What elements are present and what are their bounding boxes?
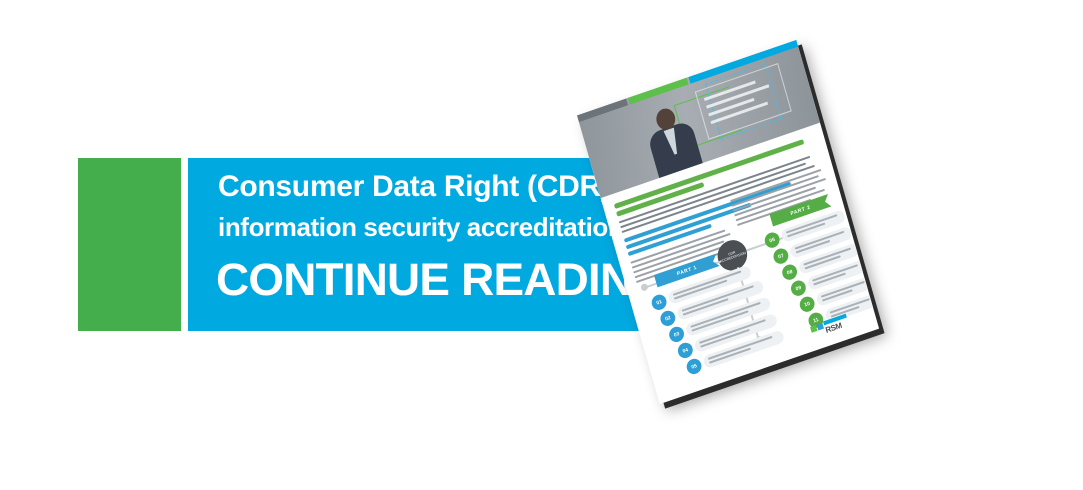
step-number: 03 [667,325,685,344]
green-accent-block [78,158,181,331]
step-number: 02 [659,309,677,328]
hero-bar-green [628,78,689,105]
step-number: 05 [685,357,703,376]
accreditation-hub-label: CDR ACCREDITATION [718,247,746,264]
step-number: 07 [772,246,790,265]
step-number: 04 [676,341,694,360]
step-number: 06 [763,230,781,249]
connector-left-dot [640,283,649,292]
infographic-document-wrapper: CDR ACCREDITATION PART 1 PART 2 [612,72,912,402]
step-number: 09 [789,279,807,298]
step-number: 10 [798,295,816,314]
infographic-document-page: CDR ACCREDITATION PART 1 PART 2 [577,40,879,404]
step-number: 08 [780,262,798,281]
step-number: 01 [650,293,668,312]
hero-bar-gray [577,98,628,122]
infographic-document[interactable]: CDR ACCREDITATION PART 1 PART 2 [577,40,879,404]
promo-banner-stage: Consumer Data Right (CDR) information se… [0,0,1083,490]
